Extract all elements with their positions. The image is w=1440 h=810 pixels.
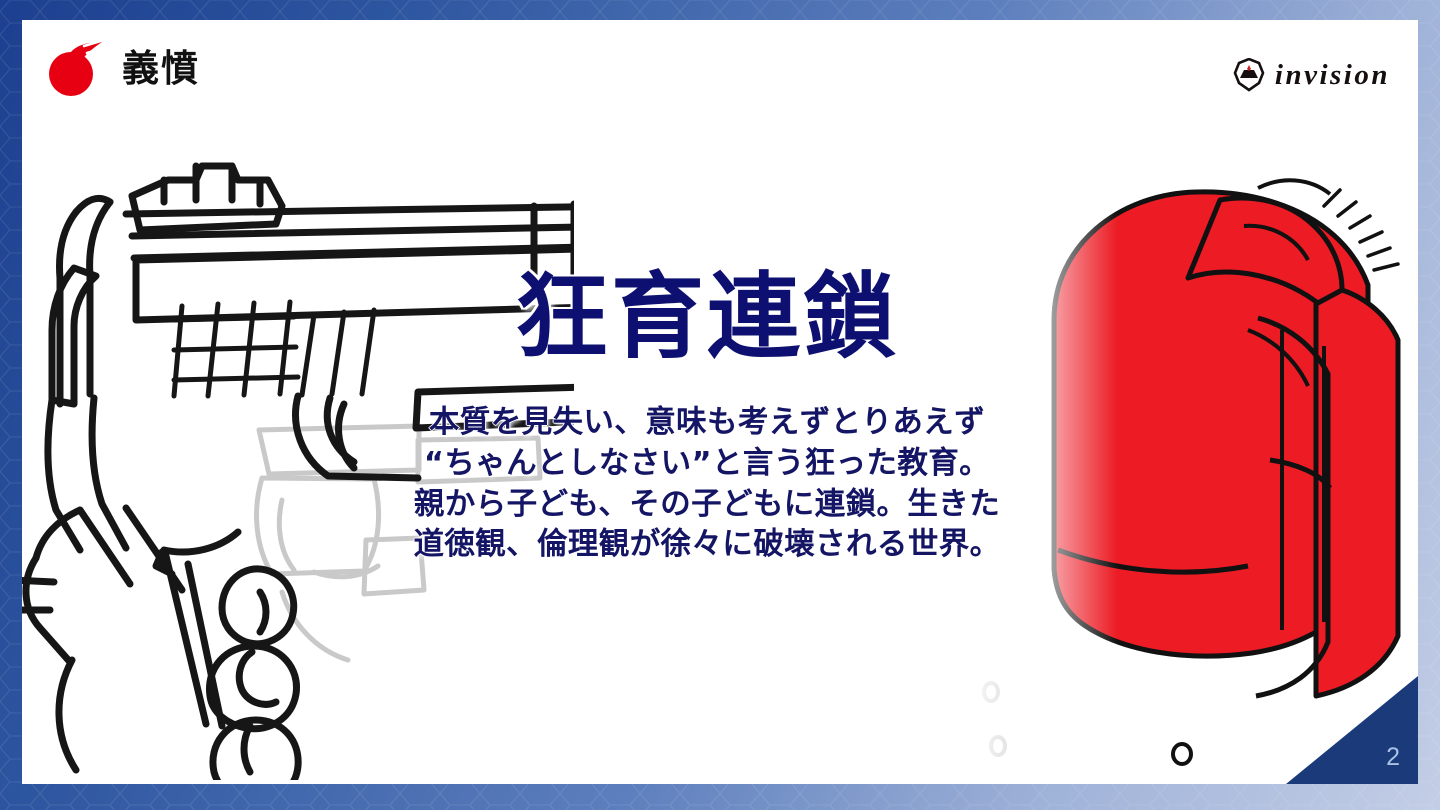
invision-circle-icon [1232, 58, 1266, 92]
invision-wordmark: invision [1275, 61, 1390, 90]
slide-header: 義憤 invision [22, 20, 1418, 132]
body-line-1: 本質を見失い、意味も考えずとりあえず [377, 403, 1037, 444]
body-line-4: 道徳観、倫理観が徐々に破壊される世界。 [377, 525, 1037, 566]
center-text-block: 狂育連鎖 本質を見失い、意味も考えずとりあえず “ちゃんとしなさい”と言う狂った… [377, 270, 1037, 566]
slide-canvas: 義憤 invision 狂育連鎖 本質を見失い、意味も考えずとりあえず “ちゃん… [22, 20, 1418, 784]
brand-left: 義憤 [44, 36, 200, 100]
body-line-3: 親から子ども、その子どもに連鎖。生きた [377, 485, 1037, 526]
invision-logo[interactable]: invision [1232, 58, 1390, 92]
body-text: 本質を見失い、意味も考えずとりあえず “ちゃんとしなさい”と言う狂った教育。 親… [377, 403, 1037, 566]
brand-title: 義憤 [122, 50, 200, 87]
body-line-2: “ちゃんとしなさい”と言う狂った教育。 [377, 444, 1037, 485]
page-title: 狂育連鎖 [377, 270, 1037, 365]
slide-frame: 義憤 invision 狂育連鎖 本質を見失い、意味も考えずとりあえず “ちゃん… [0, 0, 1440, 810]
red-flame-drop-logo [44, 36, 108, 100]
